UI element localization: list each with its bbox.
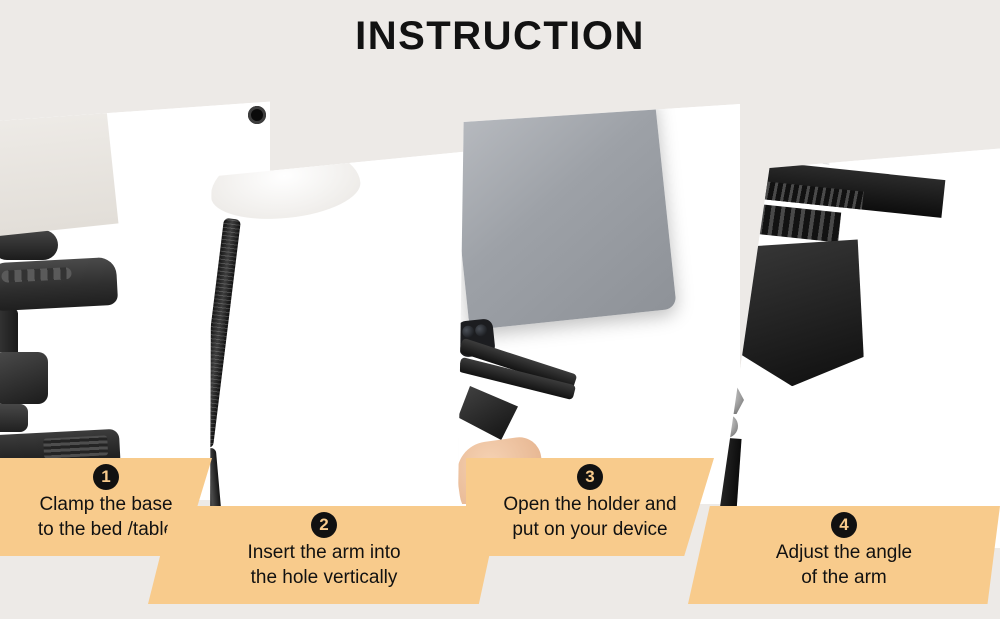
clamp-hub-shape bbox=[0, 352, 48, 404]
step-2-photo-image bbox=[210, 148, 502, 528]
step-3-caption-banner: 3 Open the holder and put on your device bbox=[466, 458, 714, 556]
page-title: INSTRUCTION bbox=[0, 14, 1000, 59]
step-2-photo bbox=[210, 148, 502, 528]
step-3-photo-image bbox=[458, 104, 740, 504]
step-3-caption-text: Open the holder and put on your device bbox=[466, 492, 714, 542]
instruction-graphic: INSTRUCTION bbox=[0, 0, 1000, 619]
step-3-photo bbox=[458, 104, 740, 504]
step-4-caption-banner: 4 Adjust the angle of the arm bbox=[688, 506, 1000, 604]
step-2-caption-text: Insert the arm into the hole vertically bbox=[148, 540, 500, 590]
step-4-photo: CD110JA8071 bbox=[714, 148, 1000, 548]
clamp-right-nub-shape bbox=[0, 404, 28, 432]
step-3-number-badge: 3 bbox=[577, 464, 603, 490]
clamp-upper-jaw-shape bbox=[0, 257, 118, 311]
step-1-number-badge: 1 bbox=[93, 464, 119, 490]
clamp-neck-shape bbox=[0, 308, 18, 352]
step-4-photo-image: CD110JA8071 bbox=[714, 148, 1000, 548]
table-surface-shape bbox=[0, 100, 118, 236]
step-4-caption-text: Adjust the angle of the arm bbox=[688, 540, 1000, 590]
step-2-caption-banner: 2 Insert the arm into the hole verticall… bbox=[148, 506, 500, 604]
step-4-number-badge: 4 bbox=[831, 512, 857, 538]
step-2-number-badge: 2 bbox=[311, 512, 337, 538]
arm-tube-left-shape bbox=[210, 218, 241, 448]
arm-knuckle-shape bbox=[458, 386, 518, 440]
tablet-device-shape bbox=[458, 104, 677, 330]
